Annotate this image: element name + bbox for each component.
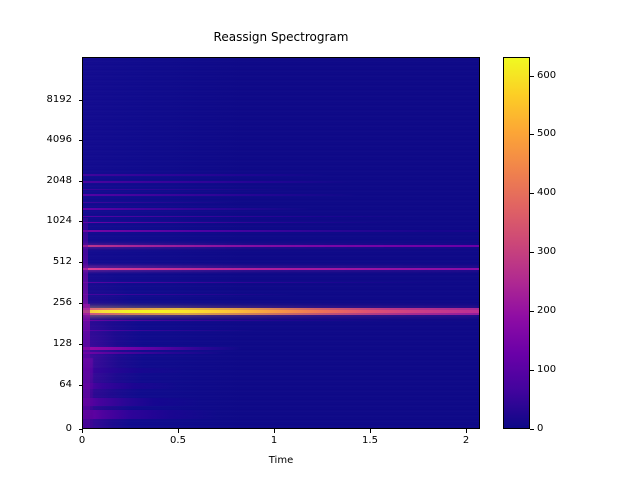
colorbar-tick-label: 300 <box>537 247 587 257</box>
colorbar-tick-label: 100 <box>537 365 587 375</box>
spectral-line-upper-c2 <box>83 189 479 190</box>
ytick-label: 0 <box>12 424 72 434</box>
ytick-label: 4096 <box>12 135 72 145</box>
colorbar-tick-mark <box>530 252 534 253</box>
ytick-mark <box>79 100 83 101</box>
xtick-mark <box>466 429 467 433</box>
spectral-line-mid-2 <box>83 222 479 223</box>
xtick-mark <box>82 429 83 433</box>
xtick-label: 1 <box>244 436 304 446</box>
xtick-label: 1.5 <box>340 436 400 446</box>
xtick-mark <box>178 429 179 433</box>
colorbar-tick-mark <box>530 134 534 135</box>
spectral-line-weak-2 <box>83 294 479 295</box>
ytick-mark <box>79 181 83 182</box>
spectral-line-sideband-1 <box>83 320 479 321</box>
spectral-line-weak-1 <box>83 282 479 283</box>
colorbar: 600 500 400 300 200 100 0 <box>503 57 530 429</box>
lowfreq-noise-2 <box>83 383 479 389</box>
colorbar-tick-label: 0 <box>537 424 587 434</box>
ytick-mark <box>79 221 83 222</box>
colorbar-tick-mark <box>530 76 534 77</box>
ytick-label: 8192 <box>12 95 72 105</box>
spectral-line-mid-1 <box>83 216 479 217</box>
xtick-label: 0.5 <box>148 436 208 446</box>
ytick-label: 64 <box>12 380 72 390</box>
lowfreq-noise-4 <box>83 410 479 419</box>
spectral-line-upper-a <box>83 208 479 210</box>
ytick-label: 512 <box>12 257 72 267</box>
colorbar-tick-label: 500 <box>537 129 587 139</box>
xtick-mark <box>370 429 371 433</box>
colorbar-tick-mark <box>530 370 534 371</box>
spectral-line-fundamental-edge-top <box>83 308 479 310</box>
colorbar-tick-label: 600 <box>537 71 587 81</box>
spectral-line-mid-3 <box>83 230 479 232</box>
spectral-line-upper-c <box>83 181 479 183</box>
onset-transient-lower <box>83 358 93 428</box>
xtick-label: 0 <box>52 436 112 446</box>
matplotlib-figure: Reassign Spectrogram <box>0 0 640 480</box>
spectral-line-upper-b2 <box>83 202 479 203</box>
spectrogram-heatmap <box>83 58 479 428</box>
spectral-line-harmonic-3-halo <box>83 243 479 249</box>
ytick-label: 256 <box>12 298 72 308</box>
ytick-mark <box>79 262 83 263</box>
spectral-line-upper-d <box>83 174 479 176</box>
lowfreq-noise-1 <box>83 368 479 373</box>
ytick-label: 1024 <box>12 216 72 226</box>
lowfreq-noise-3 <box>83 398 479 406</box>
xtick-label: 2 <box>436 436 496 446</box>
onset-transient-upper <box>83 218 88 306</box>
ytick-mark <box>79 140 83 141</box>
colorbar-tick-mark <box>530 193 534 194</box>
spectral-line-harmonic-2-halo <box>83 265 479 272</box>
chart-title: Reassign Spectrogram <box>0 30 562 44</box>
colorbar-tick-label: 200 <box>537 306 587 316</box>
spectral-line-sub-partial <box>83 347 479 350</box>
colorbar-tick-mark <box>530 311 534 312</box>
x-axis-label: Time <box>82 455 480 466</box>
spectral-line-fundamental-edge-bottom <box>83 313 479 315</box>
spectral-line-sideband-2 <box>83 330 479 331</box>
ytick-mark <box>79 303 83 304</box>
ytick-mark <box>79 344 83 345</box>
ytick-mark <box>79 385 83 386</box>
ytick-label: 2048 <box>12 176 72 186</box>
colorbar-gradient <box>503 57 530 429</box>
spectral-line-sub-partial-2 <box>83 352 479 354</box>
spectral-line-upper-b <box>83 194 479 196</box>
ytick-label: 128 <box>12 339 72 349</box>
colorbar-tick-label: 400 <box>537 188 587 198</box>
spectrogram-axes <box>82 57 480 429</box>
xtick-mark <box>274 429 275 433</box>
colorbar-tick-mark <box>530 429 534 430</box>
